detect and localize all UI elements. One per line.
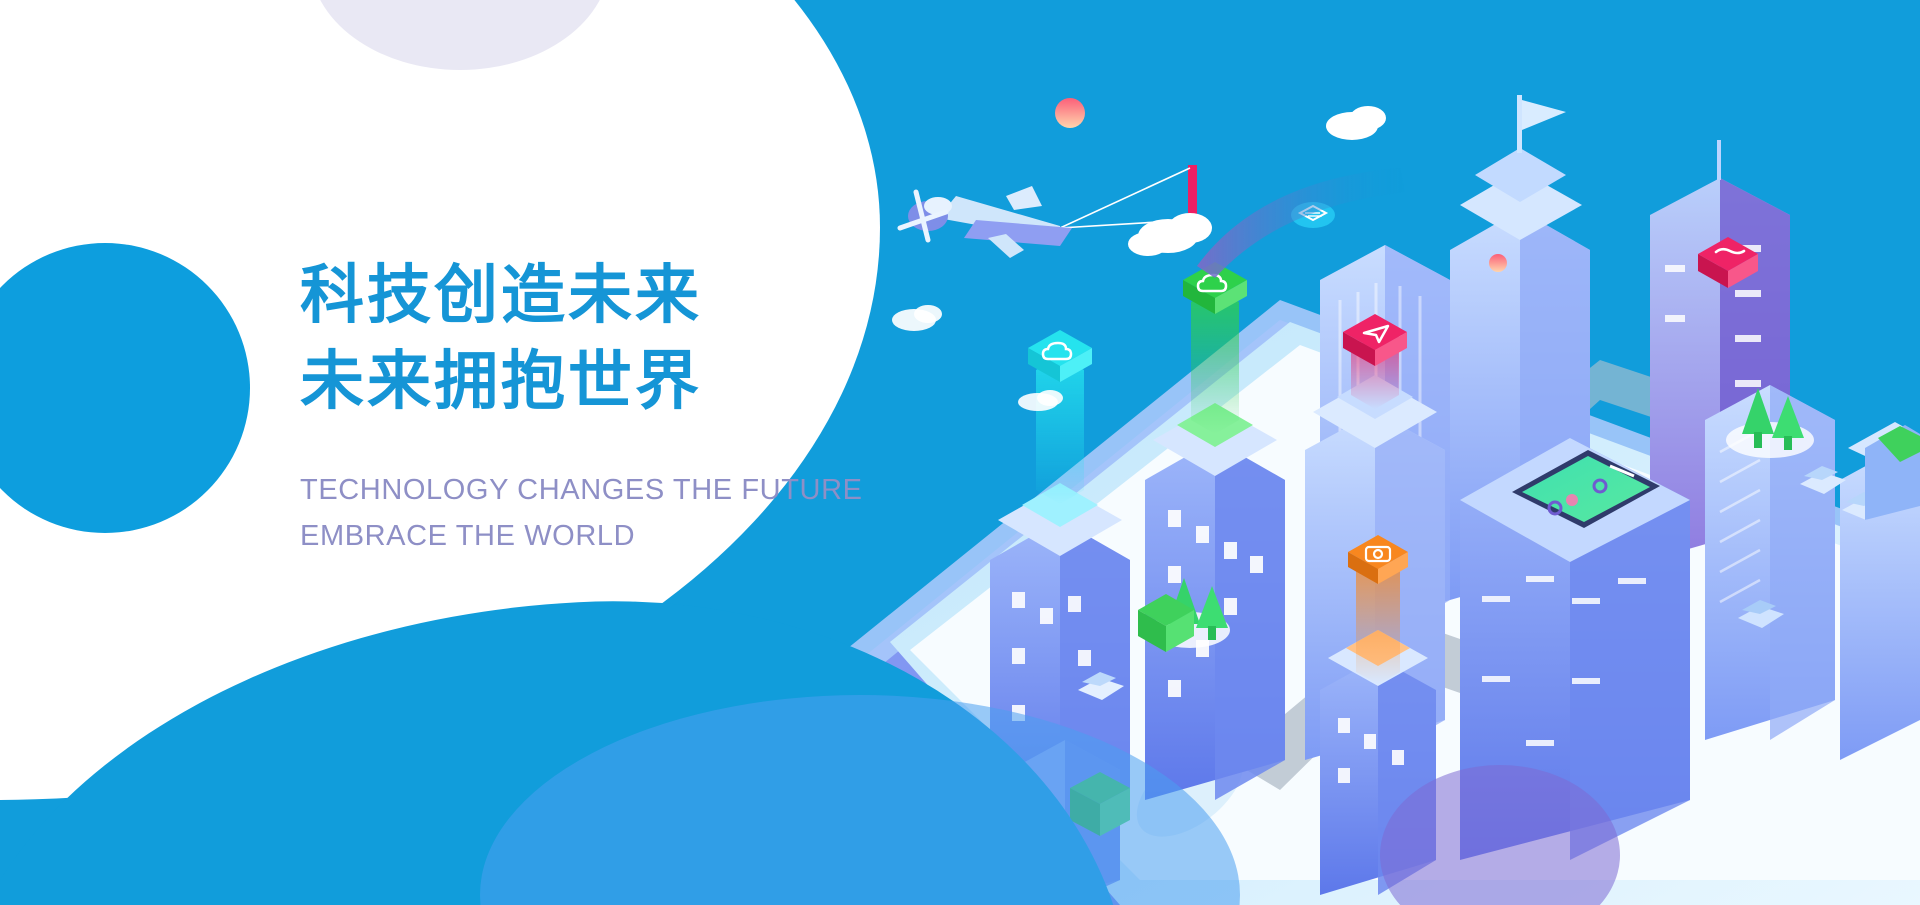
subtitle-block: TECHNOLOGY CHANGES THE FUTURE EMBRACE TH… [300,467,860,559]
plane-banner [1188,165,1197,221]
headline-line-1: 科技创造未来 [300,253,860,339]
sun-ball [1055,98,1085,128]
subtitle-line-1: TECHNOLOGY CHANGES THE FUTURE [300,467,860,513]
hero-banner: 科技创造未来 未来拥抱世界 TECHNOLOGY CHANGES THE FUT… [0,0,1920,905]
small-ball [1489,254,1507,272]
flag-icon [1522,100,1566,130]
hero-copy: 科技创造未来 未来拥抱世界 TECHNOLOGY CHANGES THE FUT… [300,253,860,559]
headline-line-2: 未来拥抱世界 [300,339,860,425]
airplane-icon [900,186,1072,258]
subtitle-line-2: EMBRACE THE WORLD [300,513,860,559]
flag-pole [1517,95,1522,153]
banner-ropes [1060,168,1190,228]
